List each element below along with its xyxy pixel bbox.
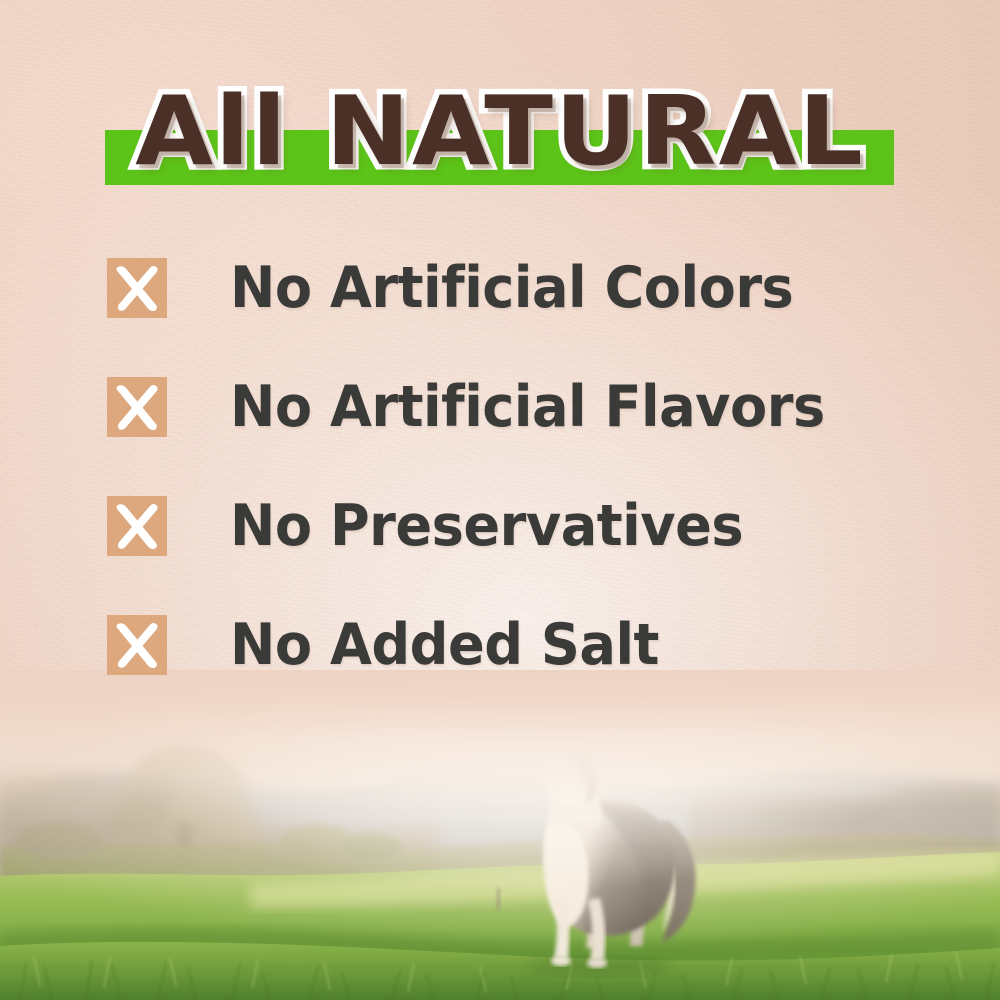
claims-list: No Artificial Colors No Artificial Flavo… xyxy=(107,258,967,675)
claim-row: No Artificial Colors xyxy=(107,258,967,318)
meadow-dog-photo xyxy=(0,670,1000,1000)
poster-canvas: All NATURAL No Artificial Colors No Arti… xyxy=(0,0,1000,1000)
headline-block: All NATURAL xyxy=(0,72,1000,192)
x-mark-glyph xyxy=(107,496,167,556)
claim-row: No Artificial Flavors xyxy=(107,377,967,437)
claim-label: No Artificial Colors xyxy=(230,258,793,318)
meadow-dog-illustration xyxy=(0,670,1000,1000)
claim-row: No Added Salt xyxy=(107,615,967,675)
claim-label: No Preservatives xyxy=(230,496,743,556)
x-mark-icon xyxy=(107,258,167,318)
x-mark-icon xyxy=(107,615,167,675)
x-mark-glyph xyxy=(107,615,167,675)
x-mark-icon xyxy=(107,377,167,437)
x-mark-glyph xyxy=(107,377,167,437)
sun-glow xyxy=(0,670,1000,1000)
claim-row: No Preservatives xyxy=(107,496,967,556)
x-mark-glyph xyxy=(107,258,167,318)
x-mark-icon xyxy=(107,496,167,556)
claim-label: No Added Salt xyxy=(230,615,659,675)
headline-title: All NATURAL xyxy=(0,72,1000,192)
claim-label: No Artificial Flavors xyxy=(230,377,825,437)
